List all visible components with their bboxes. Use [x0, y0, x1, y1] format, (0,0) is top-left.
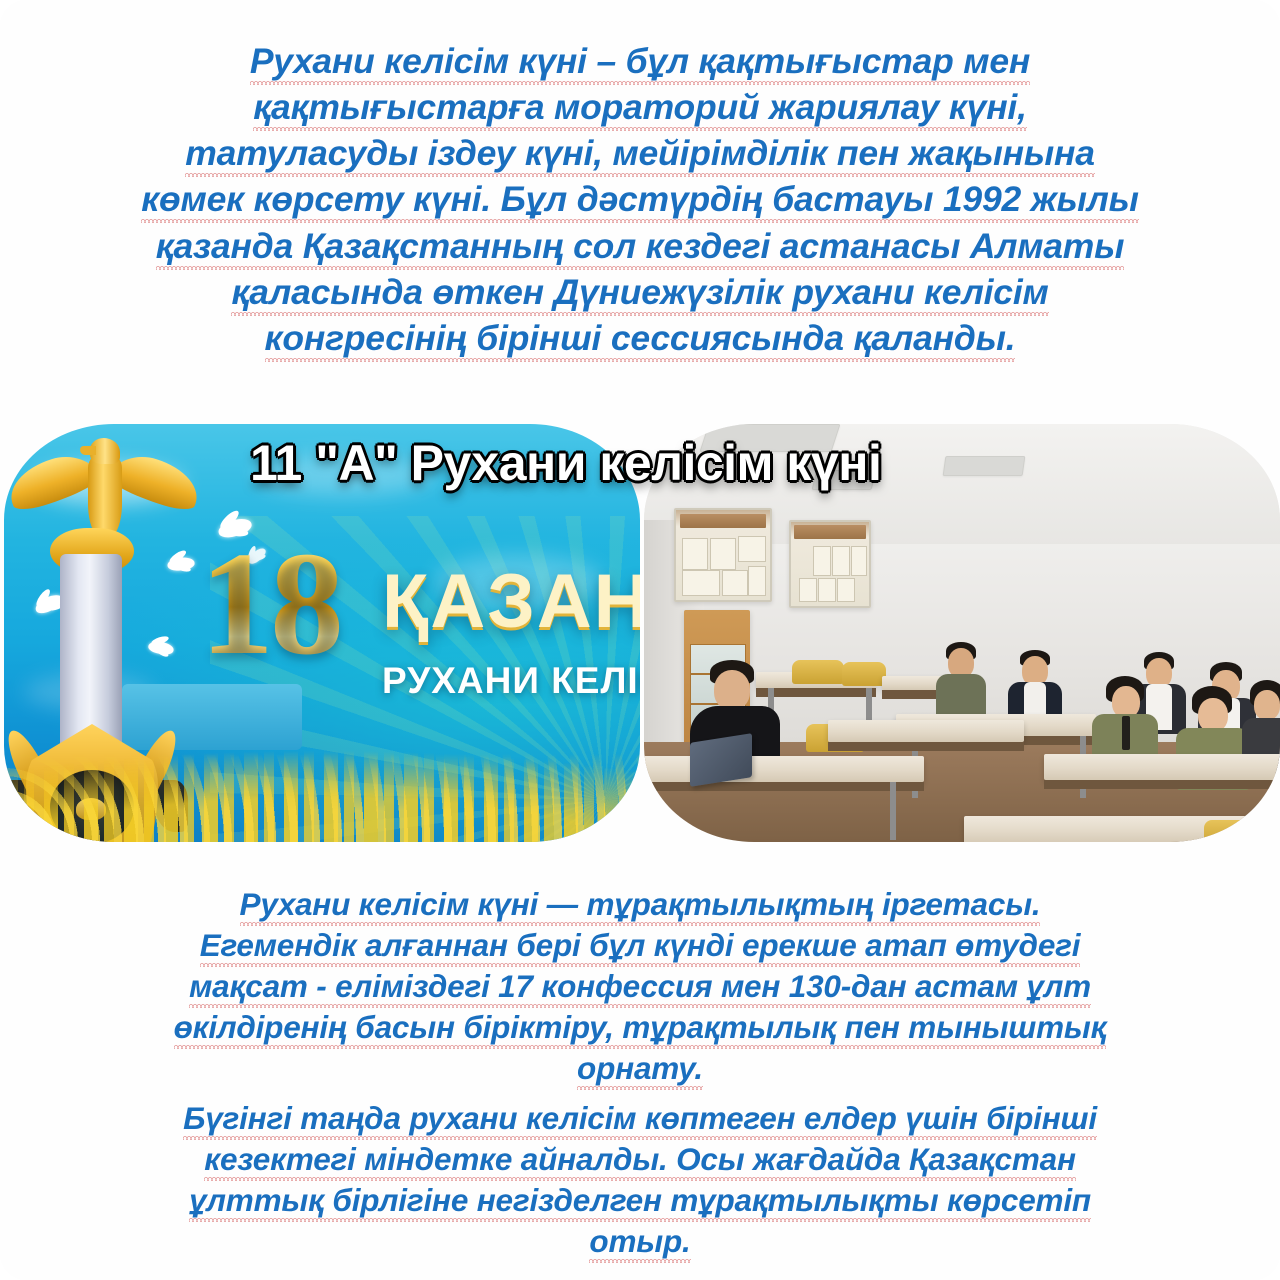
bottom-text-line: өкілдіренің басын біріктіру, тұрақтылық … [174, 1009, 1107, 1050]
top-text-line: Рухани келісім күні – бұл қақтығыстар ме… [250, 41, 1030, 86]
chair-icon [1204, 820, 1260, 842]
bottom-text-block-1: Рухани келісім күні — тұрақтылықтың ірге… [0, 884, 1280, 1089]
bottom-text-line: Бүгінгі таңда рухани келісім көптеген ел… [183, 1100, 1097, 1141]
overlay-title: 11 "A" Рухани келісім күні [250, 434, 881, 492]
chair-icon [792, 660, 844, 684]
poster-subtitle: РУХАНИ КЕЛІСІМ КҮ [382, 662, 640, 699]
desk-icon [1044, 754, 1280, 780]
bottom-text-block-2: Бүгінгі таңда рухани келісім көптеген ел… [0, 1098, 1280, 1262]
bottom-text-line: ұлттық бірлігіне негізделген тұрақтылықт… [189, 1182, 1091, 1223]
bottom-text-line: орнату. [577, 1050, 703, 1091]
bottom-text-line: кезектегі міндетке айналды. Осы жағдайда… [204, 1141, 1076, 1182]
desk-icon [828, 720, 1024, 742]
wall-poster-icon [674, 508, 772, 602]
eagle-beak [80, 446, 96, 455]
chair-icon [842, 662, 886, 686]
bottom-text-line: отыр. [589, 1223, 690, 1264]
poster-day-number: 18 [200, 530, 340, 678]
ceiling-light-icon [943, 456, 1026, 476]
kazakh-ornament-swirls-icon [4, 738, 640, 842]
top-text-line: қақтығыстарға мораторий жариялау күні, [253, 87, 1027, 132]
poster-month-label: ҚАЗАН [382, 564, 640, 640]
desk-leg [890, 782, 896, 840]
bottom-text-line: Рухани келісім күні — тұрақтылықтың ірге… [240, 886, 1041, 927]
top-text-line: қаласында өткен Дүниежүзілік рухани келі… [231, 272, 1048, 317]
top-text-block: Рухани келісім күні – бұл қақтығыстар ме… [0, 38, 1280, 361]
eagle-body [88, 452, 122, 538]
bottom-text-line: Егемендік алғаннан бері бұл күнді ерекше… [200, 927, 1081, 968]
wall-poster-icon [789, 520, 871, 608]
top-text-line: көмек көрсету күні. Бұл дәстүрдің бастау… [141, 179, 1139, 224]
top-text-line: татуласуды іздеу күні, мейірімділік пен … [185, 133, 1094, 178]
desk-icon [644, 756, 924, 782]
top-text-line: конгресінің бірінші сессиясында қаланды. [265, 318, 1016, 363]
media-strip: 18 ҚАЗАН РУХАНИ КЕЛІСІМ КҮ [0, 424, 1280, 842]
bottom-text-line: мақсат - еліміздегі 17 конфессия мен 130… [189, 968, 1091, 1009]
poster-page: Рухани келісім күні – бұл қақтығыстар ме… [0, 0, 1280, 1280]
top-text-line: қазанда Қазақстанның сол кездегі астанас… [156, 226, 1125, 271]
